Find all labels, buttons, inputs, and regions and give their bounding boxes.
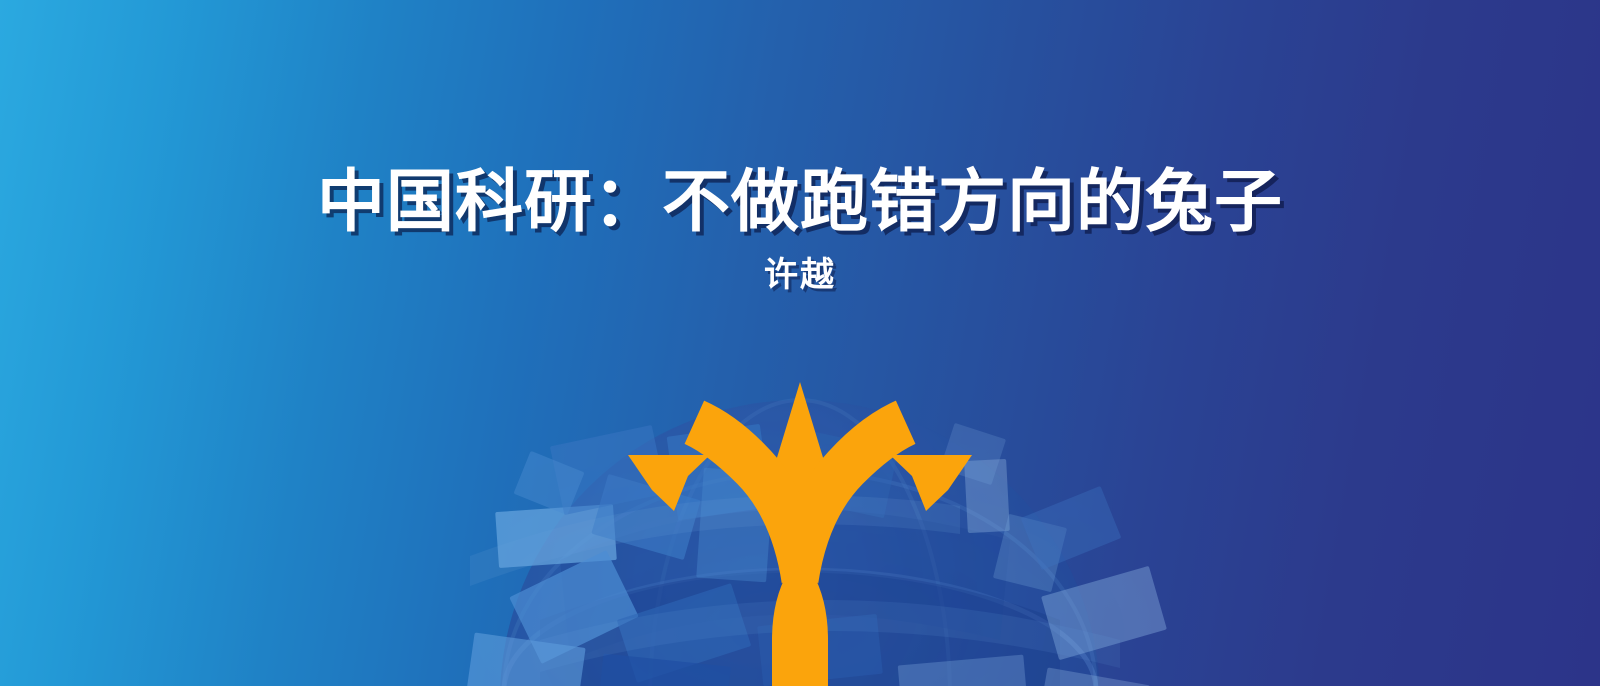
arrow-up-branch [772, 382, 828, 572]
collage-group [466, 400, 1167, 686]
slide-canvas: 中国科研：不做跑错方向的兔子 许越 [0, 0, 1600, 686]
globe-shape [500, 400, 1100, 686]
collage-bands [470, 495, 1120, 672]
collage-tiles-left [466, 425, 751, 686]
arrow-left-head [628, 455, 710, 511]
arrow-left-branch-shaft [680, 400, 822, 585]
three-way-arrow-graphic [628, 382, 972, 686]
page-title: 中国科研：不做跑错方向的兔子 [0, 168, 1600, 236]
arrow-right-head [890, 455, 972, 511]
title-block: 中国科研：不做跑错方向的兔子 许越 [0, 168, 1600, 292]
author-name: 许越 [0, 258, 1600, 292]
collage-tiles-right [898, 423, 1167, 686]
arrow-trunk [772, 572, 828, 686]
collage-tiles-center [667, 424, 899, 686]
arrow-right-branch-shaft [778, 400, 920, 585]
background-artwork [0, 0, 1600, 686]
